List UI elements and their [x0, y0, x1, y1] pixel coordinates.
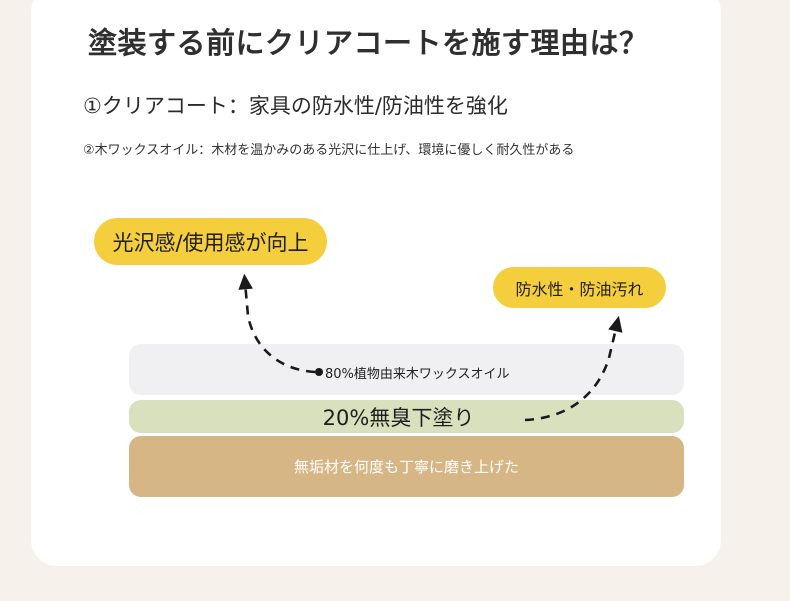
badge-water-oil-resistance: 防水性・防油汚れ — [493, 267, 666, 308]
subtitle-clear-coat: ①クリアコート：家具の防水性/防油性を強化 — [83, 90, 508, 120]
layer-bar-primer-label: 20%無臭下塗り — [323, 402, 475, 432]
badge-gloss-improvement: 光沢感/使用感が向上 — [94, 218, 327, 265]
layer-bar-primer: 20%無臭下塗り — [129, 400, 684, 433]
badge-gloss-label: 光沢感/使用感が向上 — [112, 227, 308, 257]
layer-bar-solid-wood-label: 無垢材を何度も丁寧に磨き上げた — [294, 456, 519, 477]
badge-water-label: 防水性・防油汚れ — [515, 276, 643, 300]
page-title: 塗装する前にクリアコートを施す理由は？ — [88, 20, 649, 62]
layer-bar-wax-oil-label: 80%植物由来木ワックスオイル — [325, 363, 510, 382]
slide-canvas: 塗装する前にクリアコートを施す理由は？ ①クリアコート：家具の防水性/防油性を強… — [0, 0, 790, 601]
subtitle-wood-wax-oil: ②木ワックスオイル：木材を温かみのある光沢に仕上げ、環境に優しく耐久性がある — [83, 139, 574, 158]
content-card: 塗装する前にクリアコートを施す理由は？ ①クリアコート：家具の防水性/防油性を強… — [31, 0, 721, 566]
marker-dot-icon — [315, 368, 323, 376]
layer-bar-solid-wood: 無垢材を何度も丁寧に磨き上げた — [129, 436, 684, 497]
